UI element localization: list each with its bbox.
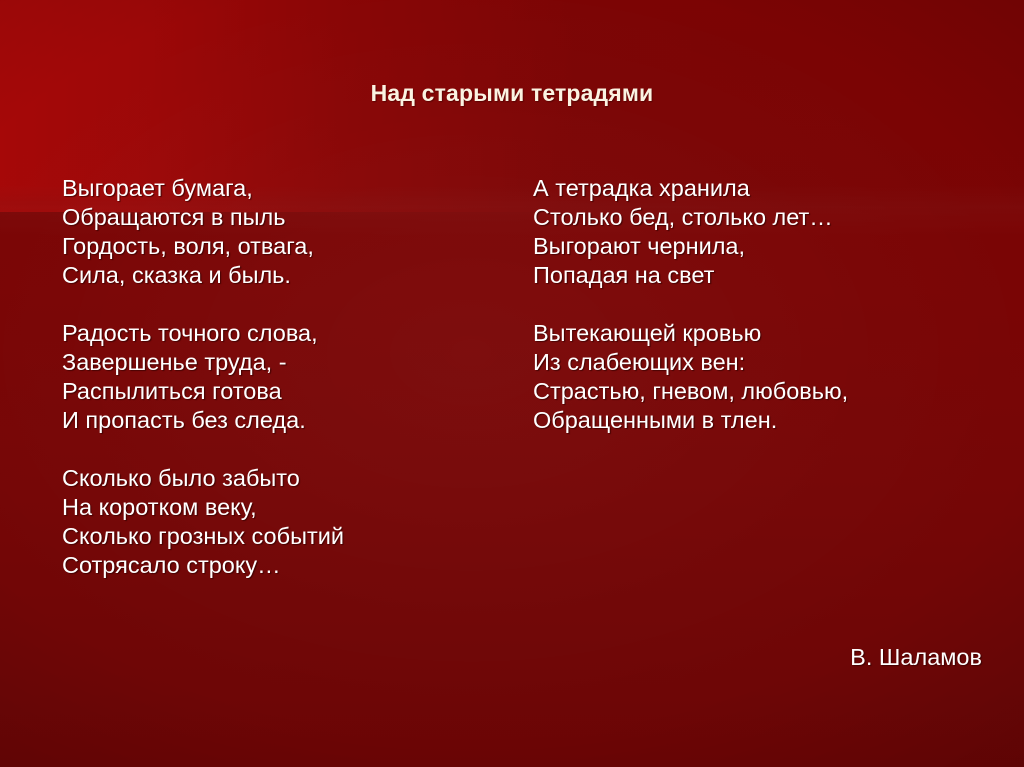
poem-line: Сколько было забыто <box>62 464 344 493</box>
poem-line: Завершенье труда, - <box>62 348 344 377</box>
poem-line: На коротком веку, <box>62 493 344 522</box>
poem-line: Попадая на свет <box>533 261 848 290</box>
poem-stanza: Выгорает бумага, Обращаются в пыль Гордо… <box>62 174 344 290</box>
poem-line: Радость точного слова, <box>62 319 344 348</box>
slide-content: Над старыми тетрадями Выгорает бумага, О… <box>0 0 1024 767</box>
poem-right-column: А тетрадка хранила Столько бед, столько … <box>533 174 848 435</box>
poem-line: Сколько грозных событий <box>62 522 344 551</box>
poem-left-column: Выгорает бумага, Обращаются в пыль Гордо… <box>62 174 344 580</box>
poem-stanza: А тетрадка хранила Столько бед, столько … <box>533 174 848 290</box>
poem-line: Выгорает бумага, <box>62 174 344 203</box>
poem-line: И пропасть без следа. <box>62 406 344 435</box>
poem-line: Обращенными в тлен. <box>533 406 848 435</box>
presentation-slide: Над старыми тетрадями Выгорает бумага, О… <box>0 0 1024 767</box>
author-attribution: В. Шаламов <box>850 643 982 672</box>
poem-line: Столько бед, столько лет… <box>533 203 848 232</box>
poem-stanza: Вытекающей кровью Из слабеющих вен: Стра… <box>533 319 848 435</box>
poem-line: А тетрадка хранила <box>533 174 848 203</box>
poem-line: Распылиться готова <box>62 377 344 406</box>
poem-line: Сотрясало строку… <box>62 551 344 580</box>
poem-line: Страстью, гневом, любовью, <box>533 377 848 406</box>
slide-title: Над старыми тетрадями <box>0 80 1024 107</box>
poem-line: Гордость, воля, отвага, <box>62 232 344 261</box>
poem-stanza: Радость точного слова, Завершенье труда,… <box>62 319 344 435</box>
poem-line: Вытекающей кровью <box>533 319 848 348</box>
poem-line: Сила, сказка и быль. <box>62 261 344 290</box>
poem-stanza: Сколько было забыто На коротком веку, Ск… <box>62 464 344 580</box>
poem-line: Из слабеющих вен: <box>533 348 848 377</box>
poem-line: Выгорают чернила, <box>533 232 848 261</box>
poem-line: Обращаются в пыль <box>62 203 344 232</box>
